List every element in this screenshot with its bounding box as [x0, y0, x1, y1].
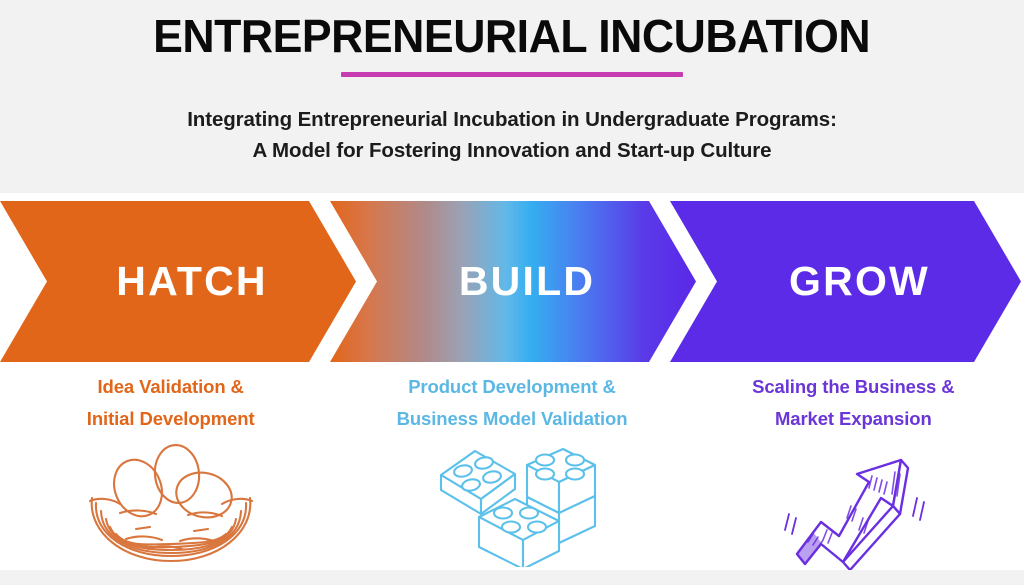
- stage-caption-hatch-line-2: Initial Development: [0, 403, 341, 435]
- stage-icons-row: [0, 437, 1024, 570]
- infographic-page: ENTREPRENEURIAL INCUBATION Integrating E…: [0, 0, 1024, 585]
- header-band: ENTREPRENEURIAL INCUBATION Integrating E…: [0, 0, 1024, 193]
- stage-captions-row: Idea Validation & Initial Development Pr…: [0, 371, 1024, 437]
- stage-caption-build: Product Development & Business Model Val…: [341, 371, 682, 437]
- title-divider: [341, 72, 683, 77]
- stage-caption-grow-line-2: Market Expansion: [683, 403, 1024, 435]
- stage-icon-cell-grow: [683, 437, 1024, 570]
- subtitle-line-2: A Model for Fostering Innovation and Sta…: [187, 135, 837, 166]
- subtitle: Integrating Entrepreneurial Incubation i…: [187, 104, 837, 166]
- stage-icon-cell-hatch: [0, 437, 341, 570]
- upward-arrow-icon: [777, 438, 929, 570]
- stage-label-hatch: HATCH: [88, 261, 267, 302]
- nest-with-eggs-icon: [76, 441, 266, 567]
- footer-strip: [0, 570, 1024, 585]
- stage-arrow-hatch[interactable]: HATCH: [0, 201, 356, 362]
- stage-icon-cell-build: [341, 437, 682, 570]
- stage-arrow-band: HATCH BUILD GROW: [0, 193, 1024, 373]
- stage-caption-hatch: Idea Validation & Initial Development: [0, 371, 341, 437]
- stage-label-build: BUILD: [431, 261, 595, 302]
- page-title: ENTREPRENEURIAL INCUBATION: [153, 9, 870, 63]
- stage-arrow-build[interactable]: BUILD: [330, 201, 696, 362]
- stage-caption-grow-line-1: Scaling the Business &: [683, 371, 1024, 403]
- stage-label-grow: GROW: [761, 261, 930, 302]
- subtitle-line-1: Integrating Entrepreneurial Incubation i…: [187, 104, 837, 135]
- stage-caption-hatch-line-1: Idea Validation &: [0, 371, 341, 403]
- stage-caption-grow: Scaling the Business & Market Expansion: [683, 371, 1024, 437]
- lego-bricks-icon: [423, 441, 601, 567]
- stage-caption-build-line-2: Business Model Validation: [341, 403, 682, 435]
- stage-caption-build-line-1: Product Development &: [341, 371, 682, 403]
- stage-arrow-grow[interactable]: GROW: [670, 201, 1021, 362]
